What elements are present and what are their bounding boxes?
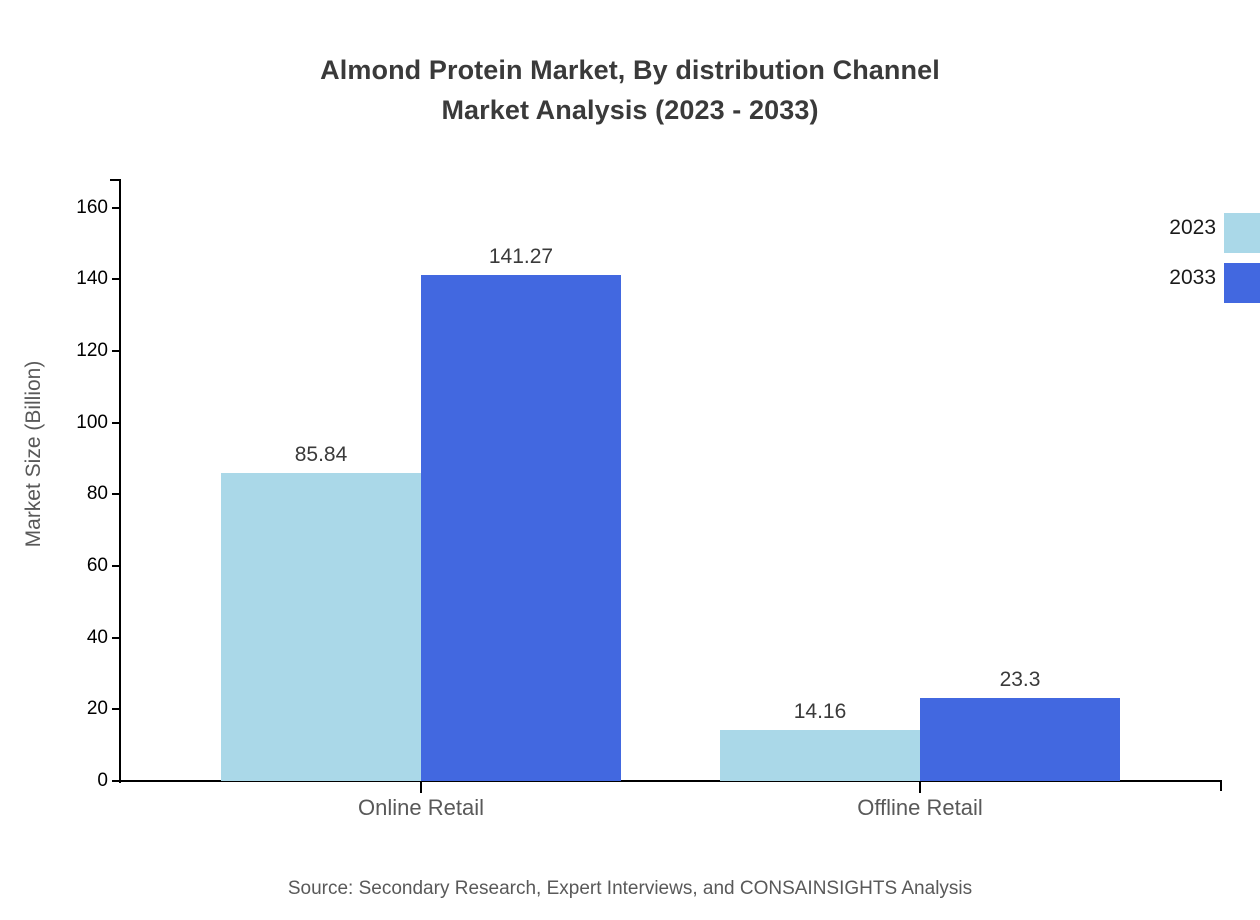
chart-legend[interactable]: 20232033 (1120, 213, 1260, 305)
bar-value-label: 85.84 (221, 443, 421, 467)
bar-value-label: 141.27 (421, 245, 621, 269)
bar-value-label: 23.3 (920, 668, 1120, 692)
x-axis-category-label: Offline Retail (770, 793, 1070, 823)
bar-2023-offline-retail[interactable] (720, 730, 920, 781)
bar-2033-offline-retail[interactable] (920, 698, 1120, 781)
x-axis-category-label: Online Retail (271, 793, 571, 823)
bar-chart: Almond Protein Market, By distribution C… (0, 0, 1260, 920)
legend-label: 2033 (1120, 265, 1216, 291)
bar-2023-online-retail[interactable] (221, 473, 421, 781)
legend-item-2033[interactable]: 2033 (1120, 263, 1260, 303)
legend-swatch (1224, 213, 1260, 253)
bar-2033-online-retail[interactable] (421, 275, 621, 781)
legend-item-2023[interactable]: 2023 (1120, 213, 1260, 253)
bar-value-label: 14.16 (720, 700, 920, 724)
legend-swatch (1224, 263, 1260, 303)
legend-label: 2023 (1120, 215, 1216, 241)
x-tick-mark (420, 781, 422, 793)
x-axis-right-cap (1220, 780, 1222, 791)
x-tick-mark (919, 781, 921, 793)
source-note: Source: Secondary Research, Expert Inter… (0, 876, 1260, 902)
bars-layer: 85.84141.2714.1623.3 (0, 0, 1260, 781)
